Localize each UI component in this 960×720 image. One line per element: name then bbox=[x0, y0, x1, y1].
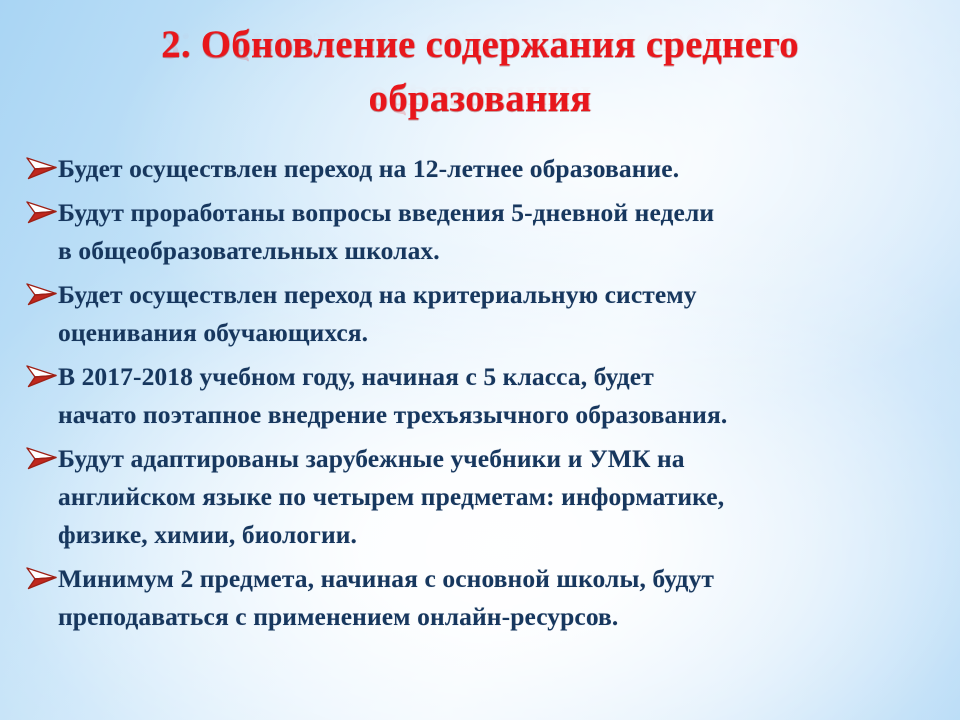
list-item-line: английском языке по четырем предметам: и… bbox=[58, 478, 924, 516]
list-item-text: Будут адаптированы зарубежные учебники и… bbox=[58, 440, 960, 554]
list-item-text: Будут проработаны вопросы введения 5-дне… bbox=[58, 194, 960, 270]
slide-title-line-2-text: образования bbox=[369, 77, 592, 120]
slide-title-line-1: 2. Обновление содержания среднего 2. Обн… bbox=[0, 22, 960, 68]
arrowhead-bullet-icon bbox=[0, 440, 58, 470]
list-item-text: В 2017-2018 учебном году, начиная с 5 кл… bbox=[58, 358, 960, 434]
list-item-line: В 2017-2018 учебном году, начиная с 5 кл… bbox=[58, 358, 924, 396]
list-item: Будут адаптированы зарубежные учебники и… bbox=[0, 440, 960, 554]
arrowhead-bullet-icon bbox=[0, 358, 58, 388]
arrowhead-bullet-icon bbox=[0, 150, 58, 180]
list-item-text: Будет осуществлен переход на 12-летнее о… bbox=[58, 150, 960, 188]
slide-title-line-1-text: 2. Обновление содержания среднего bbox=[161, 23, 799, 66]
list-item-line: Будут проработаны вопросы введения 5-дне… bbox=[58, 194, 924, 232]
presentation-slide: 2. Обновление содержания среднего 2. Обн… bbox=[0, 0, 960, 720]
list-item-text: Будет осуществлен переход на критериальн… bbox=[58, 276, 960, 352]
list-item-line: оценивания обучающихся. bbox=[58, 314, 924, 352]
list-item-line: преподаваться с применением онлайн-ресур… bbox=[58, 598, 924, 636]
arrowhead-bullet-icon bbox=[0, 276, 58, 306]
list-item-line: Будут адаптированы зарубежные учебники и… bbox=[58, 440, 924, 478]
arrowhead-bullet-icon bbox=[0, 560, 58, 590]
slide-title: 2. Обновление содержания среднего 2. Обн… bbox=[0, 22, 960, 122]
list-item-line: в общеобразовательных школах. bbox=[58, 232, 924, 270]
list-item-line: Будет осуществлен переход на 12-летнее о… bbox=[58, 150, 924, 188]
list-item-line: Будет осуществлен переход на критериальн… bbox=[58, 276, 924, 314]
bullet-list: Будет осуществлен переход на 12-летнее о… bbox=[0, 150, 960, 642]
list-item-line: физике, химии, биологии. bbox=[58, 516, 924, 554]
list-item: Будут проработаны вопросы введения 5-дне… bbox=[0, 194, 960, 270]
list-item-line: Минимум 2 предмета, начиная с основной ш… bbox=[58, 560, 924, 598]
list-item-text: Минимум 2 предмета, начиная с основной ш… bbox=[58, 560, 960, 636]
list-item: Будет осуществлен переход на критериальн… bbox=[0, 276, 960, 352]
list-item: Минимум 2 предмета, начиная с основной ш… bbox=[0, 560, 960, 636]
list-item: Будет осуществлен переход на 12-летнее о… bbox=[0, 150, 960, 188]
arrowhead-bullet-icon bbox=[0, 194, 58, 224]
list-item: В 2017-2018 учебном году, начиная с 5 кл… bbox=[0, 358, 960, 434]
slide-title-line-2: образования образования bbox=[0, 76, 960, 122]
list-item-line: начато поэтапное внедрение трехъязычного… bbox=[58, 396, 924, 434]
